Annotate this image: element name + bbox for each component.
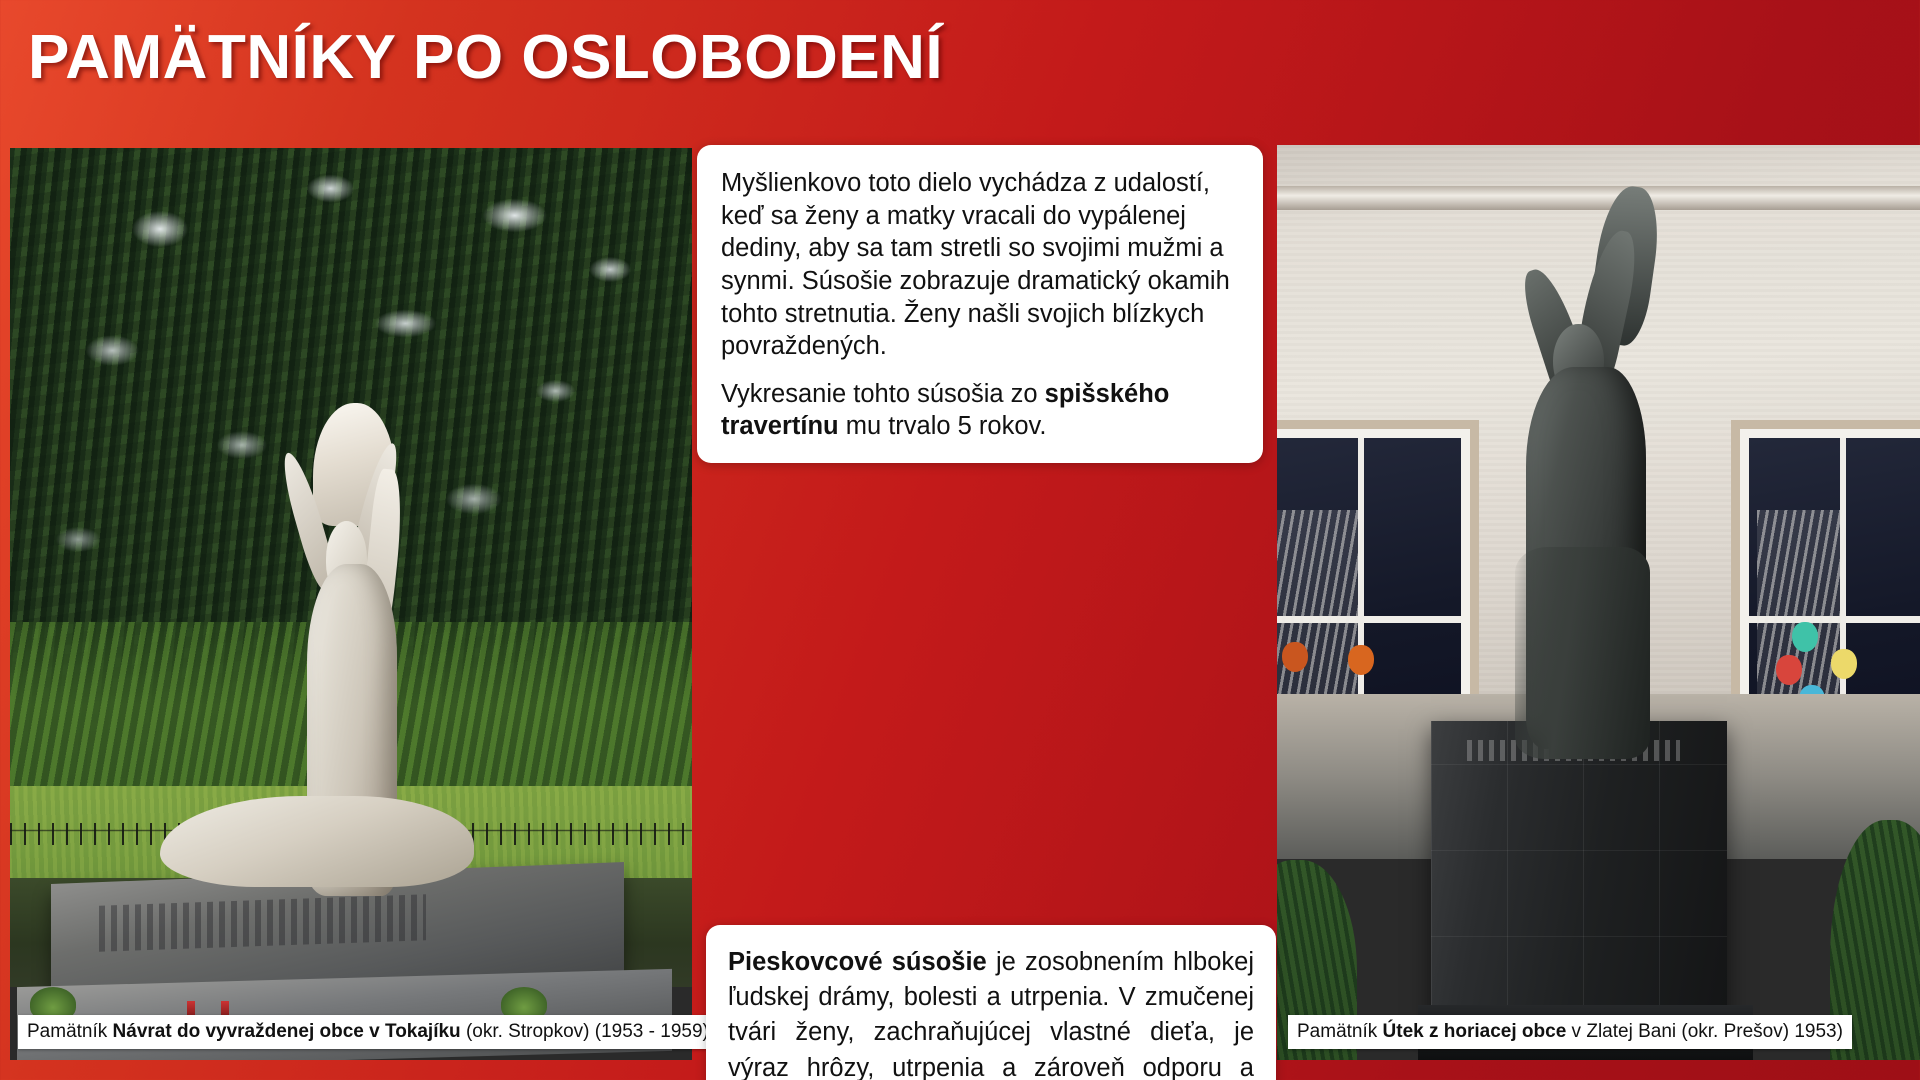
statue-skirt <box>1515 547 1650 759</box>
wall-cornice <box>1277 186 1920 210</box>
card-top-p2-lead: Vykresanie tohto súsošia zo <box>721 380 1045 408</box>
photo-left-scene <box>10 148 692 1060</box>
window-decoration-teal <box>1792 622 1818 652</box>
card-bottom-paragraph: Pieskovcové súsošie je zosobnením hlboke… <box>728 945 1254 1080</box>
memorial-candle-left <box>187 1001 195 1015</box>
memorial-candle-right <box>221 1001 229 1015</box>
granite-pedestal <box>1431 721 1727 1023</box>
caption-right-suffix: v Zlatej Bani (okr. Prešov) 1953) <box>1566 1021 1843 1042</box>
caption-right-bold: Útek z horiacej obce <box>1383 1021 1567 1042</box>
card-top-paragraph-1: Myšlienkovo toto dielo vychádza z udalos… <box>721 167 1239 363</box>
card-top-p2-tail: mu trvalo 5 rokov. <box>839 412 1047 440</box>
window-decoration-pumpkin-2 <box>1348 645 1374 675</box>
caption-left-suffix: (okr. Stropkov) (1953 - 1959) <box>461 1021 709 1042</box>
window-decoration-yellow <box>1831 649 1857 679</box>
caption-left-prefix: Pamätník <box>27 1021 113 1042</box>
text-card-top: Myšlienkovo toto dielo vychádza z udalos… <box>697 145 1263 463</box>
caption-left: Pamätník Návrat do vyvraždenej obce v To… <box>18 1015 718 1049</box>
photo-left-tokajik-memorial <box>10 148 692 1060</box>
photo-right-zlata-ban-memorial <box>1277 145 1920 1060</box>
card-top-paragraph-2: Vykresanie tohto súsošia zo spišského tr… <box>721 378 1239 443</box>
caption-left-bold: Návrat do vyvraždenej obce v Tokajíku <box>113 1021 461 1042</box>
page-title: PAMÄTNÍKY PO OSLOBODENÍ <box>28 22 943 93</box>
caption-right-prefix: Pamätník <box>1297 1021 1383 1042</box>
pedestal-tiling <box>1431 721 1727 1023</box>
photo-right-scene <box>1277 145 1920 1060</box>
text-card-bottom: Pieskovcové súsošie je zosobnením hlboke… <box>706 925 1276 1080</box>
caption-right: Pamätník Útek z horiacej obce v Zlatej B… <box>1288 1015 1852 1049</box>
bronze-statue <box>1496 218 1689 749</box>
card-bottom-bold-lead: Pieskovcové súsošie <box>728 948 987 976</box>
